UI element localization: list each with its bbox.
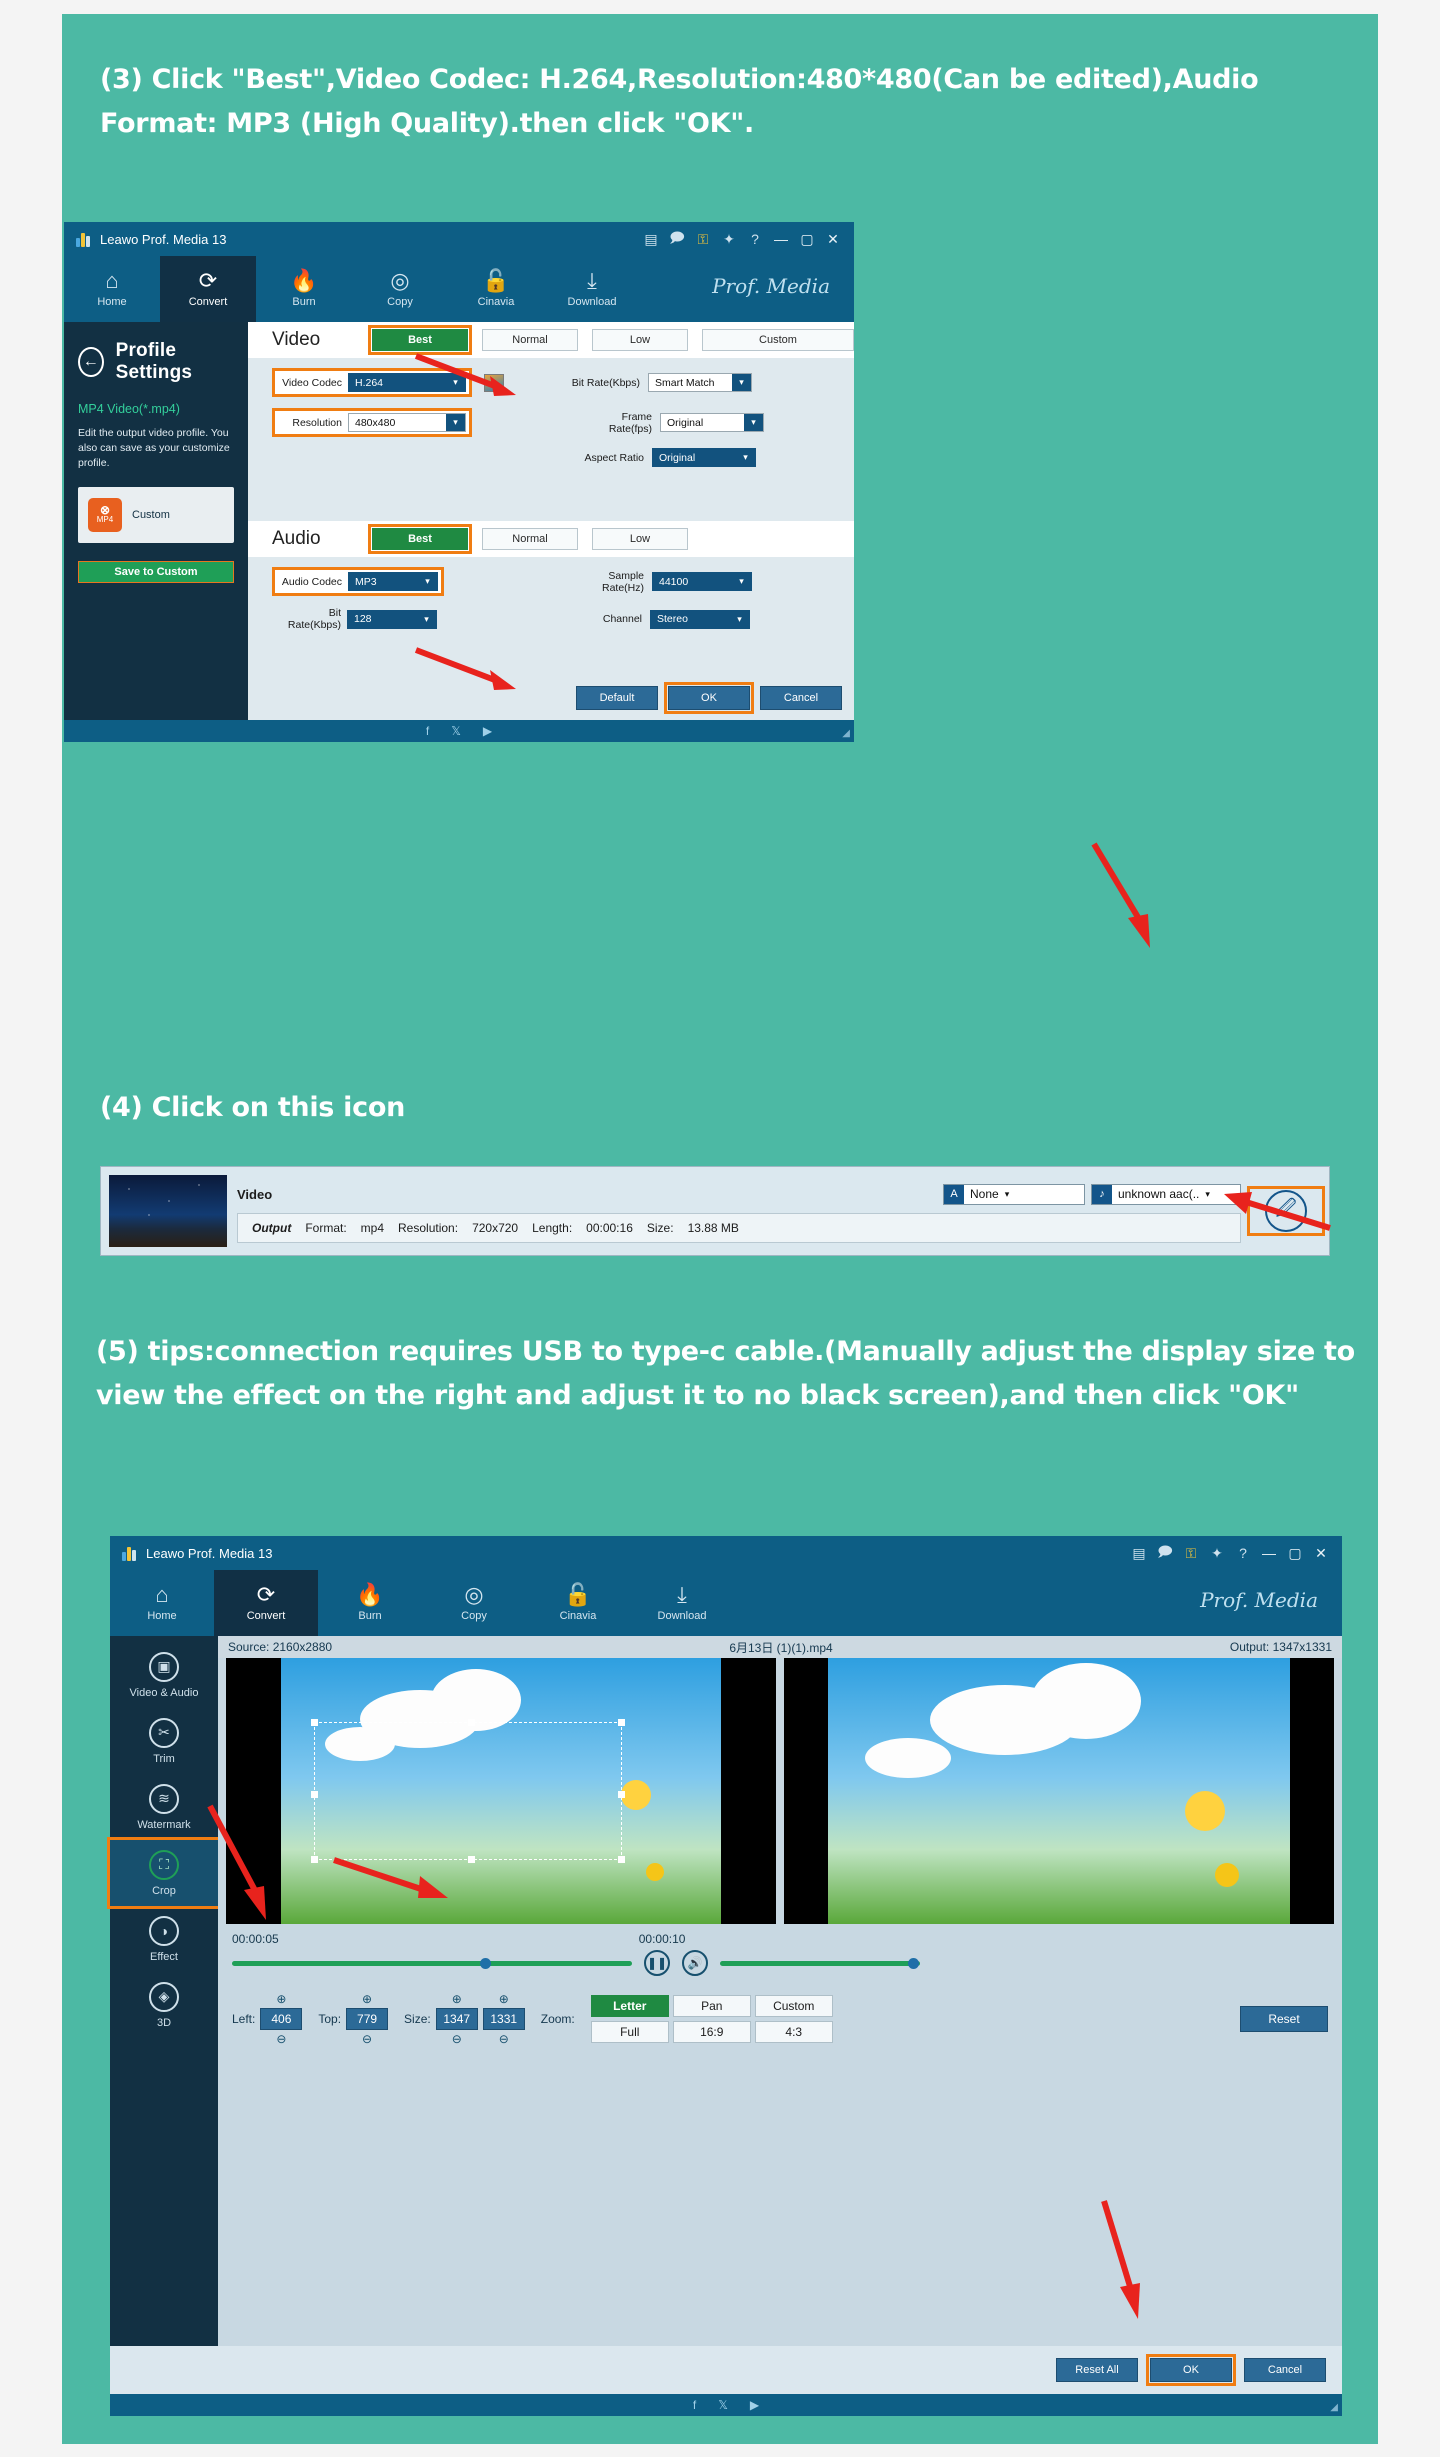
download-icon: ⤓: [677, 1584, 687, 1606]
maximize-button[interactable]: ▢: [1282, 1545, 1308, 1562]
framerate-row: Frame Rate(fps) Original ▾: [576, 411, 764, 435]
copy-icon: ◎: [464, 1584, 483, 1606]
watermark-icon: ≋: [149, 1784, 179, 1814]
edit-profile-icon: 🖉: [1265, 1190, 1307, 1232]
subtitle-icon: A: [944, 1185, 964, 1204]
profile-sidebar: ← Profile Settings MP4 Video(*.mp4) Edit…: [64, 322, 248, 720]
profile-description: Edit the output video profile. You also …: [78, 426, 234, 471]
channel-label: Channel: [562, 613, 642, 625]
size-height-value[interactable]: 1331: [483, 2008, 525, 2030]
video-quality-custom[interactable]: Custom: [702, 329, 854, 351]
back-arrow-icon[interactable]: ←: [78, 347, 104, 377]
chevron-down-icon: ▾: [744, 414, 763, 431]
twitter-icon[interactable]: 𝕏: [451, 724, 461, 738]
nav-label: Convert: [247, 1610, 286, 1622]
tool-label: Trim: [153, 1753, 175, 1765]
cancel-button[interactable]: Cancel: [760, 686, 842, 710]
download-icon: ⤓: [587, 270, 597, 292]
tool-label: 3D: [157, 2017, 171, 2029]
settings-panel: Video Best Normal Low Custom Video Codec…: [248, 322, 854, 720]
video-title: Video: [237, 1187, 272, 1202]
channel-select[interactable]: Stereo ▾: [650, 610, 750, 629]
video-fields: Video Codec H.264 ▾ Bit Rate(Kbps) Smart…: [248, 358, 854, 467]
zoom-pan[interactable]: Pan: [673, 1995, 751, 2017]
size-width-value[interactable]: 1347: [436, 2008, 478, 2030]
zoom-letter[interactable]: Letter: [591, 1995, 669, 2017]
chevron-down-icon: ▾: [736, 449, 755, 466]
audio-codec-row: Audio Codec MP3 ▾ Sample Rate(Hz) 44100 …: [272, 567, 854, 596]
sidebar-item-crop[interactable]: ⛶ Crop: [110, 1840, 218, 1906]
audio-codec-select[interactable]: MP3 ▾: [348, 572, 438, 591]
page-root: (3) Click "Best",Video Codec: H.264,Reso…: [0, 0, 1440, 2457]
chevron-down-icon: ▾: [1205, 1189, 1215, 1200]
sample-rate-label: Sample Rate(Hz): [564, 570, 644, 594]
nav-label: Cinavia: [478, 296, 515, 308]
video-codec-label: Video Codec: [278, 377, 342, 389]
left-increment[interactable]: ⊕: [276, 1992, 286, 2006]
nav-item-convert[interactable]: ⟳ Convert: [160, 256, 256, 322]
crop-icon: ⛶: [149, 1850, 179, 1880]
facebook-icon[interactable]: f: [426, 724, 429, 738]
resolution-highlight: Resolution 480x480 ▾: [272, 408, 472, 437]
sidebar-item-trim[interactable]: ✂ Trim: [110, 1708, 218, 1774]
cinavia-icon: 🔓: [482, 270, 509, 292]
chat-icon[interactable]: 🗩: [1152, 1541, 1178, 1565]
size-width-decrement[interactable]: ⊖: [452, 2032, 462, 2046]
chevron-down-icon: ▾: [446, 374, 465, 391]
video-codec-row: Video Codec H.264 ▾ Bit Rate(Kbps) Smart…: [272, 368, 854, 397]
sidebar-heading-row: ← Profile Settings: [78, 340, 234, 384]
window1-footer-buttons: Default OK Cancel: [576, 686, 842, 710]
page-title: Profile Settings: [116, 340, 234, 384]
close-button[interactable]: ✕: [1308, 1545, 1334, 1562]
top-value[interactable]: 779: [346, 2008, 388, 2030]
chevron-down-icon: ▾: [730, 611, 749, 628]
preview-image-output: [828, 1658, 1290, 1924]
sidebar-item-watermark[interactable]: ≋ Watermark: [110, 1774, 218, 1840]
source-filename: 6月13日 (1)(1).mp4: [729, 1639, 832, 1656]
crop-controls: Left: ⊕ 406 ⊖ Top: ⊕ 779 ⊖: [218, 1986, 1342, 2052]
length-label: Length:: [532, 1221, 572, 1235]
left-label: Left:: [232, 2012, 255, 2026]
nav-item-copy[interactable]: ◎ Copy: [352, 256, 448, 322]
reset-button[interactable]: Reset: [1240, 2006, 1328, 2032]
video-quality-normal[interactable]: Normal: [482, 329, 578, 351]
nav-item-home[interactable]: ⌂ Home: [110, 1570, 214, 1636]
nav-label: Home: [97, 296, 126, 308]
burn-icon: 🔥: [356, 1584, 383, 1606]
resize-grip[interactable]: ◢: [842, 728, 850, 739]
trim-icon: ✂: [149, 1718, 179, 1748]
audio-quality-normal[interactable]: Normal: [482, 528, 578, 550]
crop-editor-window: Leawo Prof. Media 13 ▤ 🗩 ⚿ ✦ ? — ▢ ✕ ⌂ H…: [110, 1536, 1342, 2416]
list-icon[interactable]: ▤: [1126, 1545, 1152, 1562]
3d-icon: ◈: [149, 1982, 179, 2012]
video-framerate-select[interactable]: Original ▾: [660, 413, 764, 432]
samplerate-row: Sample Rate(Hz) 44100 ▾: [564, 570, 752, 594]
subtitle-select[interactable]: A None ▾: [943, 1184, 1085, 1205]
zoom-custom[interactable]: Custom: [755, 1995, 833, 2017]
profile-settings-window: Leawo Prof. Media 13 ▤ 🗩 ⚿ ✦ ? — ▢ ✕ ⌂ H…: [64, 222, 854, 742]
app-logo-icon: [122, 1545, 138, 1561]
profile-name: Custom: [132, 509, 170, 521]
maximize-button[interactable]: ▢: [794, 231, 820, 248]
cinavia-icon: 🔓: [564, 1584, 591, 1606]
list-icon[interactable]: ▤: [638, 231, 664, 248]
pause-button[interactable]: ❚❚: [644, 1950, 670, 1976]
video-bitrate-label: Bit Rate(Kbps): [564, 377, 640, 389]
ok-button-2[interactable]: OK: [1150, 2358, 1232, 2382]
audio-fields: Audio Codec MP3 ▾ Sample Rate(Hz) 44100 …: [248, 557, 854, 631]
resolution-label: Resolution:: [398, 1221, 458, 1235]
top-label: Top:: [318, 2012, 341, 2026]
tool-label: Video & Audio: [130, 1687, 199, 1699]
window1-titlebar: Leawo Prof. Media 13 ▤ 🗩 ⚿ ✦ ? — ▢ ✕: [64, 222, 854, 256]
resolution-value: 720x720: [472, 1221, 518, 1235]
zoom-4-3[interactable]: 4:3: [755, 2021, 833, 2043]
help-icon[interactable]: ?: [742, 231, 768, 247]
tool-label: Crop: [152, 1885, 176, 1897]
convert-icon: ⟳: [257, 1584, 275, 1606]
save-to-custom-button[interactable]: Save to Custom: [78, 561, 234, 583]
window2-footer: Reset All OK Cancel: [110, 2346, 1342, 2394]
chevron-down-icon: ▾: [446, 414, 465, 431]
size-height-decrement[interactable]: ⊖: [499, 2032, 509, 2046]
nav-item-home[interactable]: ⌂ Home: [64, 256, 160, 322]
app-logo-icon: [76, 231, 92, 247]
resolution-select[interactable]: 480x480 ▾: [348, 413, 466, 432]
format-value: mp4: [361, 1221, 384, 1235]
aspect-ratio-row: Aspect Ratio Original ▾: [272, 448, 854, 467]
instruction-step-4: (4) Click on this icon: [100, 1086, 1300, 1130]
minimize-button[interactable]: —: [768, 231, 794, 247]
length-value: 00:00:16: [586, 1221, 633, 1235]
nav-item-cinavia[interactable]: 🔓 Cinavia: [526, 1570, 630, 1636]
nav-item-download[interactable]: ⤓ Download: [630, 1570, 734, 1636]
chevron-down-icon: ▾: [417, 611, 436, 628]
timeline-mid: 00:00:10: [639, 1932, 686, 1946]
chevron-down-icon: ▾: [1005, 1189, 1015, 1200]
video-section-header: Video Best Normal Low Custom: [248, 322, 854, 358]
nav-label: Convert: [189, 296, 228, 308]
video-bitrate-select[interactable]: Smart Match ▾: [648, 373, 752, 392]
video-task-row: Video A None ▾ ♪ unknown aac(.. ▾ Output: [100, 1166, 1330, 1256]
sidebar-item-effect[interactable]: ◑ Effect: [110, 1906, 218, 1972]
nav-item-cinavia[interactable]: 🔓 Cinavia: [448, 256, 544, 322]
home-icon: ⌂: [105, 270, 118, 292]
resolution-label: Resolution: [278, 417, 342, 429]
window1-body: ← Profile Settings MP4 Video(*.mp4) Edit…: [64, 322, 854, 720]
audio-section-header: Audio Best Normal Low: [248, 521, 854, 557]
help-icon[interactable]: ?: [1230, 1545, 1256, 1561]
left-value[interactable]: 406: [260, 2008, 302, 2030]
audio-quality-best[interactable]: Best: [372, 528, 468, 550]
edit-profile-button[interactable]: 🖉: [1251, 1190, 1321, 1232]
cancel-button-2[interactable]: Cancel: [1244, 2358, 1326, 2382]
video-codec-select[interactable]: H.264 ▾: [348, 373, 466, 392]
volume-slider[interactable]: [720, 1961, 920, 1966]
nav-label: Copy: [387, 296, 413, 308]
audio-codec-highlight: Audio Codec MP3 ▾: [272, 567, 444, 596]
tool-label: Watermark: [137, 1819, 190, 1831]
playback-slider[interactable]: [232, 1961, 632, 1966]
reset-all-button[interactable]: Reset All: [1056, 2358, 1138, 2382]
window1-title: Leawo Prof. Media 13: [100, 232, 226, 247]
youtube-icon[interactable]: ▶: [483, 724, 492, 738]
window2-title: Leawo Prof. Media 13: [146, 1546, 272, 1561]
zoom-button-grid: Letter Pan Custom Full 16:9 4:3: [591, 1995, 833, 2043]
window2-titlebar: Leawo Prof. Media 13 ▤ 🗩 ⚿ ✦ ? — ▢ ✕: [110, 1536, 1342, 1570]
aspect-ratio-label: Aspect Ratio: [568, 452, 644, 464]
preview-row: [218, 1658, 1342, 1924]
format-label: Format:: [305, 1221, 346, 1235]
source-info-bar: Source: 2160x2880 6月13日 (1)(1).mp4 Outpu…: [218, 1636, 1342, 1658]
aspect-ratio-select[interactable]: Original ▾: [652, 448, 756, 467]
bitrate-row: Bit Rate(Kbps) Smart Match ▾: [564, 373, 752, 392]
video-section-title: Video: [272, 329, 358, 351]
key-icon[interactable]: ⚿: [1178, 1545, 1204, 1562]
nav-item-convert[interactable]: ⟳ Convert: [214, 1570, 318, 1636]
crop-selection-box[interactable]: [314, 1722, 622, 1860]
minimize-button[interactable]: —: [1256, 1545, 1282, 1561]
window2-navbar: ⌂ Home ⟳ Convert 🔥 Burn ◎ Copy 🔓 Cinavia…: [110, 1570, 1342, 1636]
window1-statusbar: f 𝕏 ▶ ◢: [64, 720, 854, 742]
chat-icon[interactable]: 🗩: [664, 227, 690, 251]
nav-label: Burn: [358, 1610, 381, 1622]
timeline: 00:00:05 00:00:10 ❚❚ 🔊: [218, 1924, 1342, 1976]
nav-label: Download: [568, 296, 617, 308]
youtube-icon[interactable]: ▶: [750, 2398, 759, 2412]
zoom-label: Zoom:: [541, 2012, 575, 2026]
window2-statusbar: f 𝕏 ▶ ◢: [110, 2394, 1342, 2416]
size-label: Size:: [647, 1221, 674, 1235]
tool-label: Effect: [150, 1951, 178, 1963]
gear-icon[interactable]: ✦: [1204, 1545, 1230, 1562]
output-info: Output Format: mp4 Resolution: 720x720 L…: [237, 1213, 1241, 1243]
crop-body: ▣ Video & Audio ✂ Trim ≋ Watermark ⛶ Cro…: [110, 1636, 1342, 2346]
audio-bitrate-row: Bit Rate(Kbps) 128 ▾ Channel Stereo ▾: [272, 607, 854, 631]
brand-logo: Prof. Media: [712, 274, 830, 298]
top-stepper: Top: ⊕ 779 ⊖: [318, 1992, 388, 2046]
chevron-down-icon: ▾: [732, 573, 751, 590]
nav-label: Cinavia: [560, 1610, 597, 1622]
top-increment[interactable]: ⊕: [362, 1992, 372, 2006]
sidebar-item-video-audio[interactable]: ▣ Video & Audio: [110, 1642, 218, 1708]
audio-track-select[interactable]: ♪ unknown aac(.. ▾: [1091, 1184, 1241, 1205]
left-stepper: Left: ⊕ 406 ⊖: [232, 1992, 302, 2046]
nav-item-copy[interactable]: ◎ Copy: [422, 1570, 526, 1636]
brand-logo: Prof. Media: [1200, 1588, 1318, 1612]
video-quality-best[interactable]: Best: [372, 329, 468, 351]
burn-icon: 🔥: [290, 270, 317, 292]
ok-button[interactable]: OK: [668, 686, 750, 710]
size-height-increment[interactable]: ⊕: [499, 1992, 509, 2006]
audio-bitrate-select[interactable]: 128 ▾: [347, 610, 437, 629]
close-button[interactable]: ✕: [820, 231, 846, 248]
chevron-down-icon: ▾: [418, 573, 437, 590]
sample-rate-select[interactable]: 44100 ▾: [652, 572, 752, 591]
music-note-icon: ♪: [1092, 1185, 1112, 1204]
sidebar-item-3d[interactable]: ◈ 3D: [110, 1972, 218, 2038]
nav-item-burn[interactable]: 🔥 Burn: [256, 256, 352, 322]
video-codec-highlight: Video Codec H.264 ▾: [272, 368, 472, 397]
audio-bitrate-label: Bit Rate(Kbps): [277, 607, 341, 631]
video-framerate-label: Frame Rate(fps): [576, 411, 652, 435]
nav-item-download[interactable]: ⤓ Download: [544, 256, 640, 322]
crop-main: Source: 2160x2880 6月13日 (1)(1).mp4 Outpu…: [218, 1636, 1342, 2346]
preview-thumb-icon[interactable]: [484, 374, 504, 392]
effect-icon: ◑: [149, 1916, 179, 1946]
size-label: Size:: [404, 2012, 431, 2026]
gear-icon[interactable]: ✦: [716, 231, 742, 248]
instruction-step-5: (5) tips:connection requires USB to type…: [96, 1330, 1376, 1418]
default-button[interactable]: Default: [576, 686, 658, 710]
nav-label: Home: [147, 1610, 176, 1622]
audio-section-title: Audio: [272, 528, 358, 550]
profile-card[interactable]: ⊗MP4 Custom: [78, 487, 234, 543]
window1-navbar: ⌂ Home ⟳ Convert 🔥 Burn ◎ Copy 🔓 Cinavia…: [64, 256, 854, 322]
resolution-row: Resolution 480x480 ▾ Frame Rate(fps) Ori…: [272, 408, 854, 437]
audio-quality-low[interactable]: Low: [592, 528, 688, 550]
zoom-full[interactable]: Full: [591, 2021, 669, 2043]
size-value: 13.88 MB: [688, 1221, 739, 1235]
output-prefix: Output: [252, 1221, 291, 1235]
output-resolution: Output: 1347x1331: [1230, 1640, 1332, 1654]
size-width-increment[interactable]: ⊕: [452, 1992, 462, 2006]
volume-icon[interactable]: 🔊: [682, 1950, 708, 1976]
chevron-down-icon: ▾: [732, 374, 751, 391]
convert-icon: ⟳: [199, 270, 217, 292]
resize-grip[interactable]: ◢: [1330, 2402, 1338, 2413]
nav-label: Copy: [461, 1610, 487, 1622]
copy-icon: ◎: [390, 270, 409, 292]
home-icon: ⌂: [155, 1584, 168, 1606]
timeline-start: 00:00:05: [232, 1932, 279, 1946]
nav-item-burn[interactable]: 🔥 Burn: [318, 1570, 422, 1636]
twitter-icon[interactable]: 𝕏: [718, 2398, 728, 2412]
output-preview: [784, 1658, 1334, 1924]
audio-codec-label: Audio Codec: [278, 576, 342, 588]
channel-row: Channel Stereo ▾: [562, 610, 750, 629]
profile-format: MP4 Video(*.mp4): [78, 402, 234, 416]
nav-label: Download: [658, 1610, 707, 1622]
facebook-icon[interactable]: f: [693, 2398, 696, 2412]
source-preview[interactable]: [226, 1658, 776, 1924]
size-stepper: Size: ⊕ 1347 ⊖ ⊕ 1331 ⊖: [404, 1992, 525, 2046]
editor-tool-sidebar: ▣ Video & Audio ✂ Trim ≋ Watermark ⛶ Cro…: [110, 1636, 218, 2346]
top-decrement[interactable]: ⊖: [362, 2032, 372, 2046]
nav-label: Burn: [292, 296, 315, 308]
mp4-icon: ⊗MP4: [88, 498, 122, 532]
source-resolution: Source: 2160x2880: [228, 1640, 332, 1654]
instruction-step-3: (3) Click "Best",Video Codec: H.264,Reso…: [100, 58, 1370, 146]
video-audio-icon: ▣: [149, 1652, 179, 1682]
key-icon[interactable]: ⚿: [690, 231, 716, 248]
left-decrement[interactable]: ⊖: [276, 2032, 286, 2046]
video-thumbnail: [109, 1175, 227, 1247]
zoom-16-9[interactable]: 16:9: [673, 2021, 751, 2043]
video-quality-low[interactable]: Low: [592, 329, 688, 351]
